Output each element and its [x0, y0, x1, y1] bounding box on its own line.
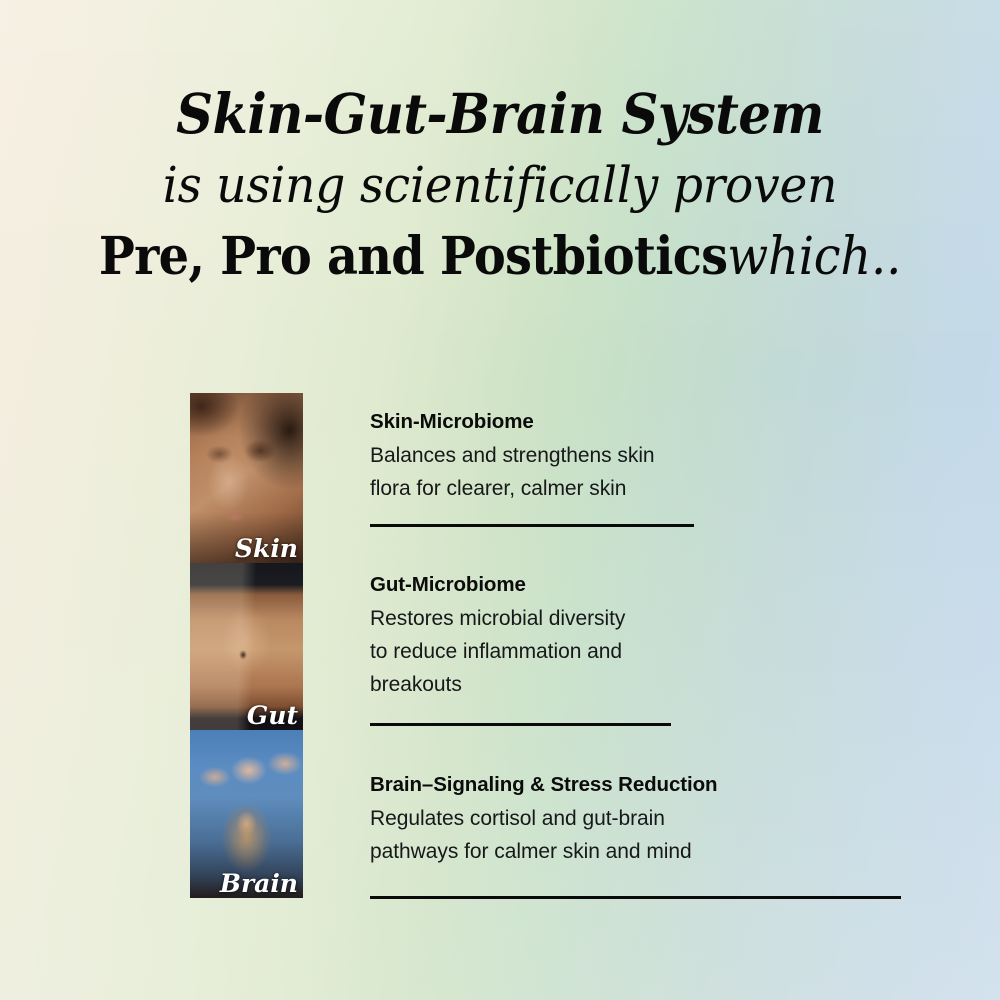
feature-gut-description: Restores microbial diversity to reduce i… [370, 602, 970, 702]
feature-skin-desc-line-1: Balances and strengthens skin [370, 439, 970, 472]
photo-panel-gut: Gut [190, 563, 303, 730]
feature-gut-title: Gut-Microbiome [370, 572, 970, 599]
feature-gut: Gut-Microbiome Restores microbial divers… [370, 572, 970, 701]
feature-gut-desc-line-1: Restores microbial diversity [370, 602, 970, 635]
feature-gut-desc-line-2: to reduce inflammation and [370, 635, 970, 668]
feature-brain-title: Brain–Signaling & Stress Reduction [370, 772, 970, 799]
divider-after-brain [370, 896, 901, 899]
headline-line-3-italic: which.. [727, 227, 901, 287]
feature-skin-title: Skin-Microbiome [370, 409, 970, 436]
feature-skin-description: Balances and strengthens skin flora for … [370, 439, 970, 505]
divider-after-gut [370, 723, 671, 726]
feature-brain: Brain–Signaling & Stress Reduction Regul… [370, 772, 970, 868]
divider-after-skin [370, 524, 694, 527]
photo-strip: Skin Gut Brain [190, 393, 303, 898]
headline-line-3: Pre, Pro and Postbioticswhich.. [40, 221, 960, 294]
photo-label-gut: Gut [247, 703, 298, 728]
headline-block: Skin-Gut-Brain System is using scientifi… [0, 78, 1000, 293]
photo-panel-skin: Skin [190, 393, 303, 563]
feature-skin-desc-line-2: flora for clearer, calmer skin [370, 472, 970, 505]
headline-line-3-bold: Pre, Pro and Postbiotics [99, 226, 727, 287]
headline-line-1: Skin-Gut-Brain System [35, 78, 965, 150]
feature-skin: Skin-Microbiome Balances and strengthens… [370, 409, 970, 505]
feature-brain-description: Regulates cortisol and gut-brain pathway… [370, 802, 970, 868]
feature-brain-desc-line-1: Regulates cortisol and gut-brain [370, 802, 970, 835]
photo-label-brain: Brain [220, 871, 298, 896]
photo-panel-brain: Brain [190, 730, 303, 898]
feature-gut-desc-line-3: breakouts [370, 668, 970, 701]
feature-brain-desc-line-2: pathways for calmer skin and mind [370, 835, 970, 868]
poster-canvas: Skin-Gut-Brain System is using scientifi… [0, 0, 1000, 1000]
photo-label-skin: Skin [235, 536, 298, 561]
headline-line-2: is using scientifically proven [30, 150, 970, 221]
